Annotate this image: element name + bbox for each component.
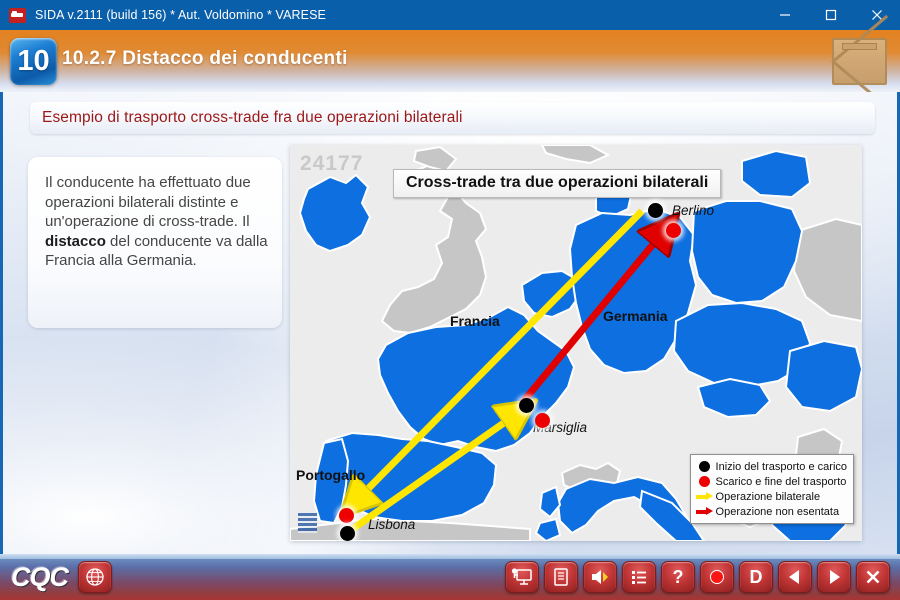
- yellow-arrow-icon: [696, 492, 713, 501]
- crate-label-strip: [842, 43, 877, 50]
- legend-item-bilateral: Operazione bilaterale: [696, 489, 847, 504]
- list-icon: [629, 567, 649, 587]
- page-title: 10.2.7 Distacco dei conducenti: [62, 48, 348, 70]
- legend-item-non-exempt: Operazione non esentata: [696, 504, 847, 519]
- close-x-icon: [864, 568, 882, 586]
- legend-item-start: Inizio del trasporto e carico: [696, 459, 847, 474]
- monitor-icon: [511, 567, 533, 587]
- globe-icon: [85, 567, 105, 587]
- right-arrow-icon: [825, 568, 843, 586]
- dictionary-button[interactable]: D: [739, 561, 773, 593]
- record-circle-icon: [707, 567, 727, 587]
- letter-d-icon: D: [750, 568, 763, 586]
- country-label-portogallo: Portogallo: [296, 467, 365, 483]
- red-arrow-icon: [696, 507, 713, 516]
- legend-label-start: Inizio del trasporto e carico: [716, 461, 847, 473]
- info-text-emphasis: distacco: [45, 233, 106, 250]
- truck-icon: [9, 8, 26, 23]
- info-panel: Il conducente ha effettuato due operazio…: [28, 157, 282, 328]
- info-paragraph: Il conducente ha effettuato due operazio…: [45, 173, 268, 271]
- maximize-button[interactable]: [808, 0, 854, 30]
- presentation-button[interactable]: [505, 561, 539, 593]
- black-dot-icon: [696, 461, 713, 472]
- globe-button[interactable]: [78, 561, 112, 593]
- subtitle-text: Esempio di trasporto cross-trade fra due…: [42, 109, 463, 127]
- page-header: 10 10.2.7 Distacco dei conducenti: [0, 30, 900, 92]
- legend-label-end: Scarico e fine del trasporto: [716, 476, 847, 488]
- marker-end-lisbona: [339, 508, 354, 523]
- city-label-lisbona: Lisbona: [368, 517, 415, 532]
- legend-item-end: Scarico e fine del trasporto: [696, 474, 847, 489]
- question-icon: ?: [673, 568, 684, 586]
- country-label-germania: Germania: [603, 308, 668, 324]
- window-controls: [762, 0, 900, 30]
- marker-start-marsiglia: [519, 398, 534, 413]
- map-watermark: 24177: [300, 152, 363, 176]
- document-button[interactable]: [544, 561, 578, 593]
- map-legend: Inizio del trasporto e carico Scarico e …: [690, 454, 854, 524]
- audio-button[interactable]: [583, 561, 617, 593]
- city-label-berlino: Berlino: [672, 203, 714, 218]
- bottom-toolbar: CQC: [0, 554, 900, 600]
- left-arrow-icon: [786, 568, 804, 586]
- application-window: SIDA v.2111 (build 156) * Aut. Voldomino…: [0, 0, 900, 600]
- marker-start-lisbona: [340, 526, 355, 541]
- previous-button[interactable]: [778, 561, 812, 593]
- subtitle-banner: Esempio di trasporto cross-trade fra due…: [30, 102, 875, 134]
- country-baltics: [742, 151, 810, 197]
- info-text-part1: Il conducente ha effettuato due operazio…: [45, 174, 251, 230]
- list-button[interactable]: [622, 561, 656, 593]
- map-title: Cross-trade tra due operazioni bilateral…: [393, 169, 721, 198]
- country-romania: [786, 341, 862, 411]
- exit-button[interactable]: [856, 561, 890, 593]
- legend-label-non-exempt: Operazione non esentata: [716, 506, 840, 518]
- marker-start-berlino: [648, 203, 663, 218]
- help-button[interactable]: ?: [661, 561, 695, 593]
- minimize-button[interactable]: [762, 0, 808, 30]
- red-dot-icon: [696, 476, 713, 487]
- window-title: SIDA v.2111 (build 156) * Aut. Voldomino…: [35, 8, 326, 22]
- next-button[interactable]: [817, 561, 851, 593]
- toolbar-button-group: ? D: [505, 561, 890, 593]
- speaker-icon: [589, 567, 611, 587]
- cqc-logo: CQC: [11, 562, 68, 593]
- country-label-francia: Francia: [450, 313, 500, 329]
- chapter-badge: 10: [10, 38, 57, 85]
- map-source-logo: [298, 512, 317, 533]
- crate-icon: [832, 38, 887, 85]
- marker-end-berlino: [666, 223, 681, 238]
- document-icon: [552, 567, 570, 587]
- map-illustration: 24177 Cross-trade tra due operazioni bil…: [290, 145, 862, 541]
- legend-label-bilateral: Operazione bilaterale: [716, 491, 821, 503]
- title-bar: SIDA v.2111 (build 156) * Aut. Voldomino…: [0, 0, 900, 30]
- record-button[interactable]: [700, 561, 734, 593]
- marker-end-marsiglia: [535, 413, 550, 428]
